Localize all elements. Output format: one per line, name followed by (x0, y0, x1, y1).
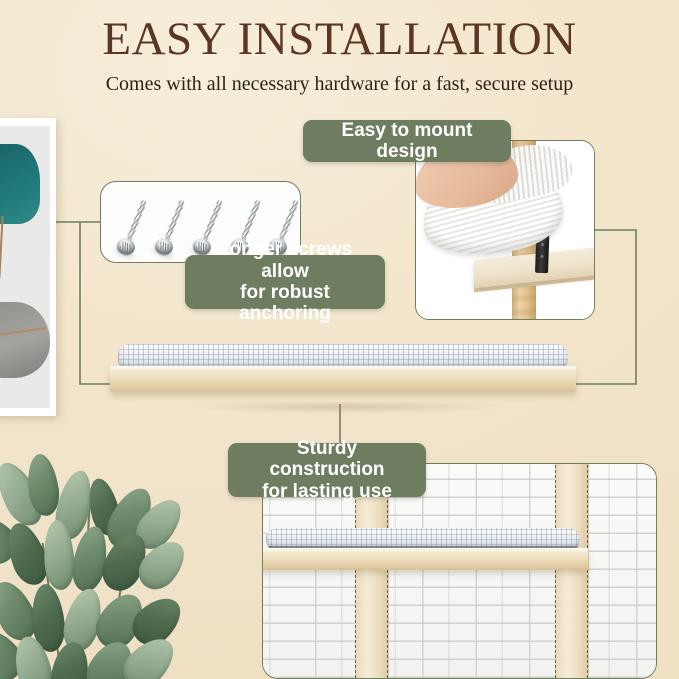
callout-label: Easy to mount design (315, 120, 499, 163)
teal-leaf-shape (0, 144, 40, 224)
page-title: EASY INSTALLATION (0, 16, 679, 63)
callout-line-2: for lasting use (262, 481, 392, 502)
art-mat (0, 126, 50, 408)
callout-line-1: Sturdy construction (269, 438, 384, 480)
wood-shelf-board (110, 366, 576, 392)
framed-art-print (0, 118, 56, 416)
callout-sturdy-construction[interactable]: Sturdy construction for lasting use (228, 443, 426, 497)
main-shelf-product (110, 344, 576, 404)
grey-leaf-shape (0, 302, 50, 378)
shelf-drop-shadow (120, 402, 568, 418)
page-subtitle: Comes with all necessary hardware for a … (0, 73, 679, 95)
screw-icon (157, 199, 186, 256)
callout-label-block: Longer screws allow for robust anchoring (197, 239, 373, 324)
callout-line-2: for robust anchoring (239, 282, 331, 324)
callout-longer-screws[interactable]: Longer screws allow for robust anchoring (185, 255, 385, 309)
callout-label-block: Sturdy construction for lasting use (240, 438, 414, 502)
infographic-canvas: EASY INSTALLATION Comes with all necessa… (0, 0, 679, 679)
callout-easy-to-mount[interactable]: Easy to mount design (303, 120, 511, 162)
wood-shelf-board (262, 548, 588, 570)
decorative-plant (0, 452, 216, 679)
mounting-photo-panel (415, 140, 595, 320)
leaf-stem (0, 216, 4, 278)
mounted-shelf-product (262, 528, 588, 580)
screw-icon (119, 199, 148, 256)
callout-line-1: Longer screws allow (218, 239, 352, 281)
woven-mat (266, 528, 580, 550)
